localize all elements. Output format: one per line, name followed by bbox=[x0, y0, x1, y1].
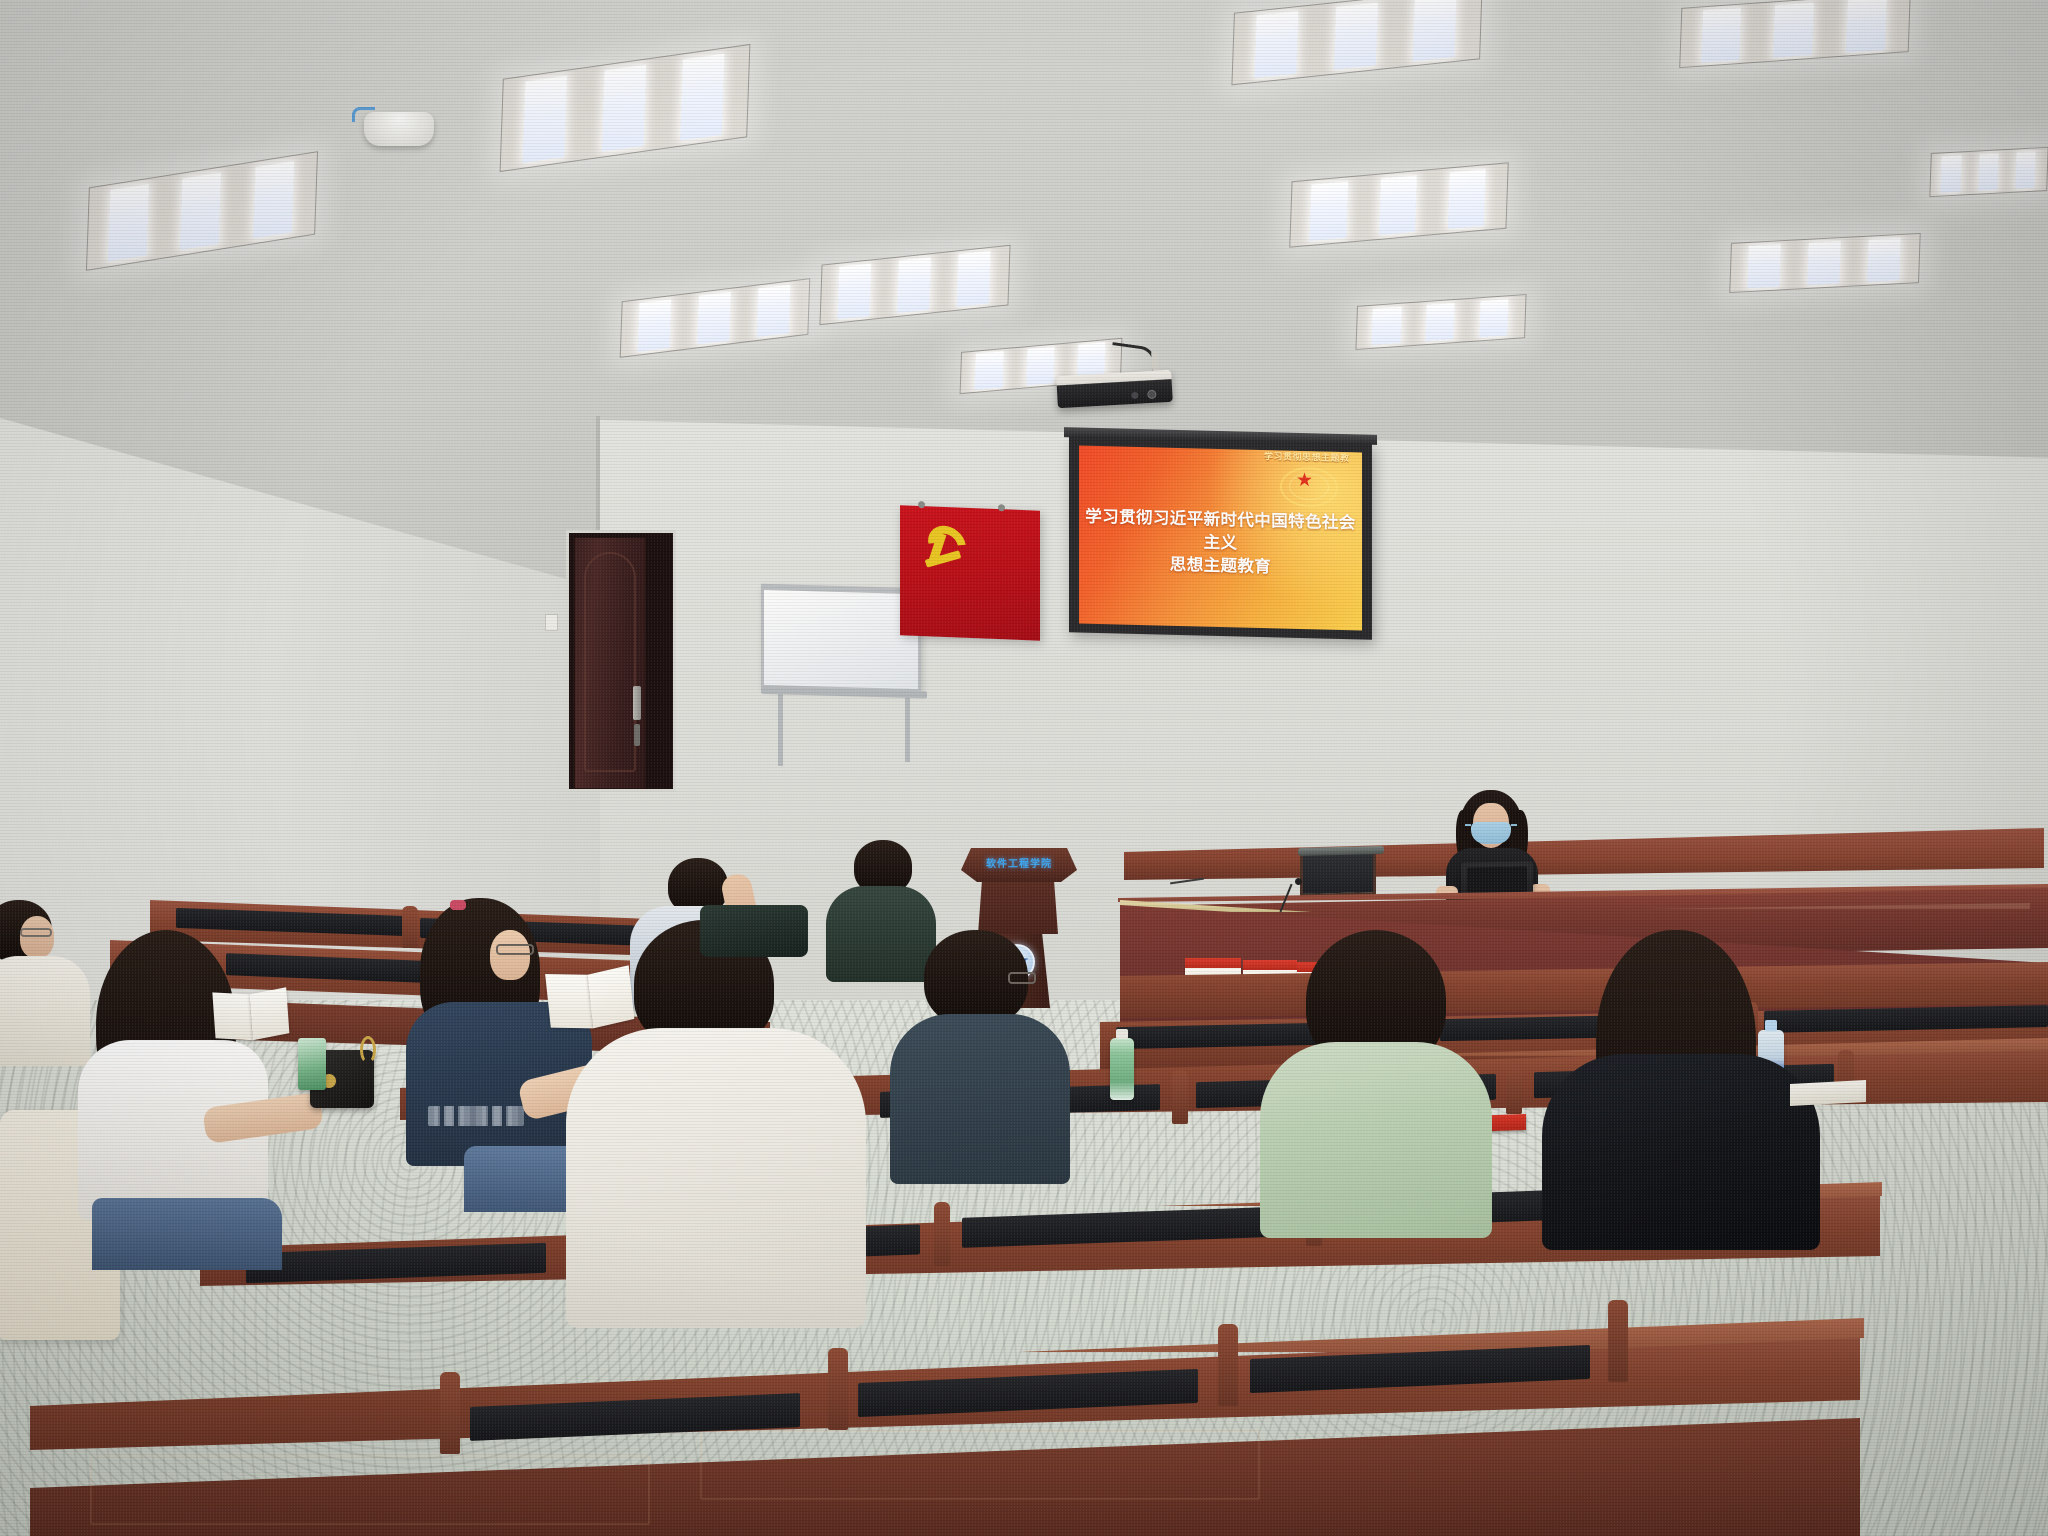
hair-tie bbox=[450, 900, 466, 910]
handbag-chain bbox=[360, 1036, 376, 1064]
ceiling-light-fixture bbox=[1289, 162, 1508, 247]
student-white-tshirt bbox=[56, 930, 316, 1260]
slide-title-line-1: 学习贯彻习近平新时代中国特色社会主义 bbox=[1079, 506, 1362, 558]
desk-panel-detail bbox=[700, 1430, 1260, 1500]
green-beverage-box bbox=[298, 1038, 326, 1090]
whiteboard-leg bbox=[778, 686, 783, 766]
door-lock-icon bbox=[634, 724, 640, 746]
projector-knob bbox=[1131, 392, 1138, 399]
podium-body bbox=[978, 880, 1058, 934]
projection-screen: 学习贯彻思想主题教育 学习贯彻习近平新时代中国特色社会主义 思想主题教育 bbox=[1069, 436, 1372, 639]
open-book bbox=[212, 989, 289, 1040]
bench-armrest bbox=[1172, 1070, 1188, 1124]
presentation-slide: 学习贯彻思想主题教育 学习贯彻习近平新时代中国特色社会主义 思想主题教育 bbox=[1079, 446, 1362, 631]
bench-armrest bbox=[440, 1372, 460, 1454]
presenter-chair[interactable] bbox=[1300, 849, 1376, 897]
ceiling-projector bbox=[1056, 370, 1173, 408]
ceiling-light-fixture bbox=[1929, 147, 2048, 197]
notebook-paper bbox=[1790, 1080, 1866, 1106]
student-face bbox=[490, 930, 530, 980]
podium-label: 软件工程学院 bbox=[976, 855, 1062, 870]
ceiling-light-fixture bbox=[86, 151, 318, 271]
bench-armrest bbox=[1218, 1324, 1238, 1406]
bench-armrest bbox=[828, 1348, 848, 1430]
slide-title: 学习贯彻习近平新时代中国特色社会主义 思想主题教育 bbox=[1079, 506, 1362, 581]
whiteboard bbox=[761, 584, 921, 692]
book-cover bbox=[1185, 958, 1241, 968]
student-dark-top bbox=[890, 930, 1070, 1180]
student-torso bbox=[1260, 1042, 1492, 1238]
smoke-detector-icon bbox=[364, 112, 434, 146]
face-mask-icon bbox=[1471, 822, 1511, 844]
classroom-door[interactable] bbox=[574, 537, 646, 789]
hammer-and-sickle-icon bbox=[917, 524, 975, 578]
dark-backpack bbox=[700, 905, 808, 957]
slide-star-emblem-icon bbox=[1272, 456, 1348, 516]
bench-armrest bbox=[934, 1202, 950, 1266]
projector-lens bbox=[1147, 390, 1156, 399]
ceiling-light-fixture bbox=[1355, 294, 1526, 350]
student-black-top bbox=[1536, 930, 1826, 1250]
ceiling-light-fixture bbox=[1729, 233, 1920, 293]
desk-panel-detail bbox=[90, 1455, 650, 1525]
student-jeans bbox=[92, 1198, 282, 1270]
student-torso bbox=[1542, 1054, 1820, 1250]
tshirt-print-text bbox=[428, 1106, 524, 1126]
ceiling-light-fixture bbox=[819, 245, 1010, 325]
ceiling-light-fixture bbox=[620, 278, 811, 358]
door-panel bbox=[584, 552, 636, 772]
communist-party-flag bbox=[900, 505, 1040, 640]
student-cream-sweatshirt bbox=[566, 920, 866, 1320]
microphone-icon bbox=[1295, 878, 1302, 885]
eyeglasses-icon bbox=[496, 944, 534, 955]
light-switch[interactable] bbox=[545, 614, 558, 631]
classroom-photo: 学习贯彻思想主题教育 学习贯彻习近平新时代中国特色社会主义 思想主题教育 bbox=[0, 0, 2048, 1536]
whiteboard-leg bbox=[905, 688, 910, 762]
eyeglasses-icon bbox=[20, 928, 52, 937]
ceiling-light-fixture bbox=[1231, 0, 1482, 85]
student-face bbox=[20, 916, 54, 958]
ceiling-light-fixture bbox=[500, 44, 751, 172]
student-torso bbox=[890, 1014, 1070, 1184]
ceiling-light-fixture bbox=[1679, 0, 1911, 68]
eyeglasses-icon bbox=[1008, 972, 1036, 984]
bench-armrest bbox=[1608, 1300, 1628, 1382]
green-beverage-carton bbox=[1110, 1038, 1134, 1100]
door-handle[interactable] bbox=[633, 686, 641, 720]
bench-armrest bbox=[1506, 1060, 1522, 1114]
student-sage-green bbox=[1250, 930, 1500, 1230]
student-torso bbox=[566, 1028, 866, 1328]
